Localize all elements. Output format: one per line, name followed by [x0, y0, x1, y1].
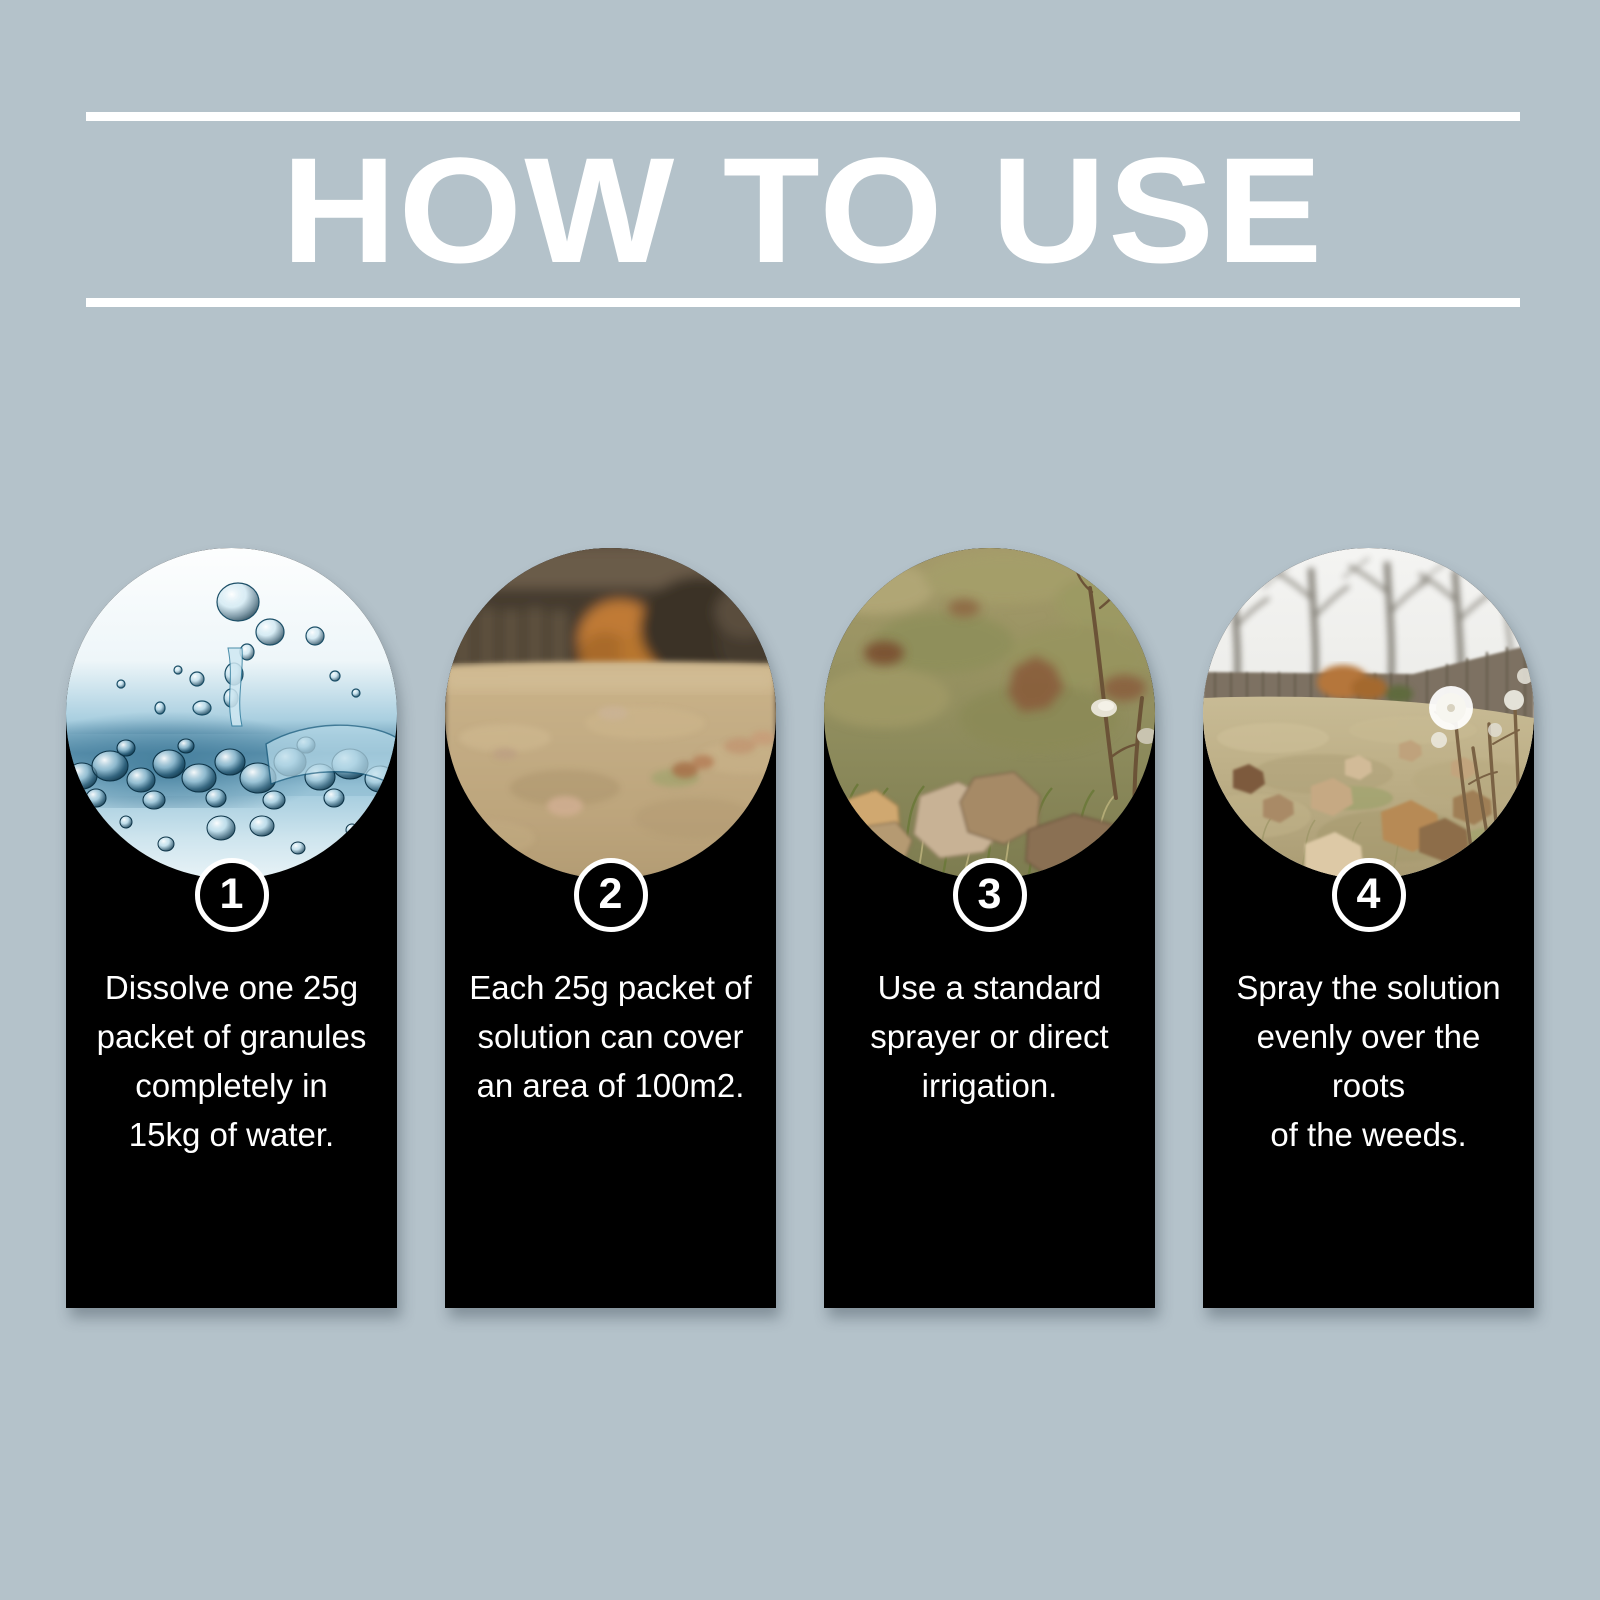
page-header: HOW TO USE	[86, 112, 1520, 307]
step-number-3: 3	[978, 873, 1002, 916]
page-title: HOW TO USE	[43, 129, 1563, 291]
step-number-badge-3: 3	[953, 858, 1027, 932]
step-description-1: Dissolve one 25g packet of granules comp…	[80, 963, 383, 1159]
step-description-3: Use a standard sprayer or direct irrigat…	[838, 963, 1141, 1110]
step-number-2: 2	[599, 873, 623, 916]
step-card-2[interactable]: 2 Each 25g packet of solution can cover …	[445, 548, 776, 1308]
title-rule-bottom	[86, 298, 1520, 307]
step-number-4: 4	[1357, 873, 1381, 916]
steps-container: 1 Dissolve one 25g packet of granules co…	[66, 548, 1534, 1310]
step-number-badge-1: 1	[195, 858, 269, 932]
step-number-1: 1	[220, 873, 244, 916]
step-number-badge-2: 2	[574, 858, 648, 932]
step-description-4: Spray the solution evenly over the roots…	[1217, 963, 1520, 1159]
step-card-4[interactable]: 4 Spray the solution evenly over the roo…	[1203, 548, 1534, 1308]
lawn-with-dandelion-photo	[1203, 548, 1534, 879]
step-number-badge-4: 4	[1332, 858, 1406, 932]
step-card-1[interactable]: 1 Dissolve one 25g packet of granules co…	[66, 548, 397, 1308]
step-card-3[interactable]: 3 Use a standard sprayer or direct irrig…	[824, 548, 1155, 1308]
grass-with-leaves-photo	[824, 548, 1155, 879]
step-description-2: Each 25g packet of solution can cover an…	[459, 963, 762, 1110]
title-rule-top	[86, 112, 1520, 121]
water-splash-photo	[66, 548, 397, 879]
dry-lawn-field-photo	[445, 548, 776, 879]
